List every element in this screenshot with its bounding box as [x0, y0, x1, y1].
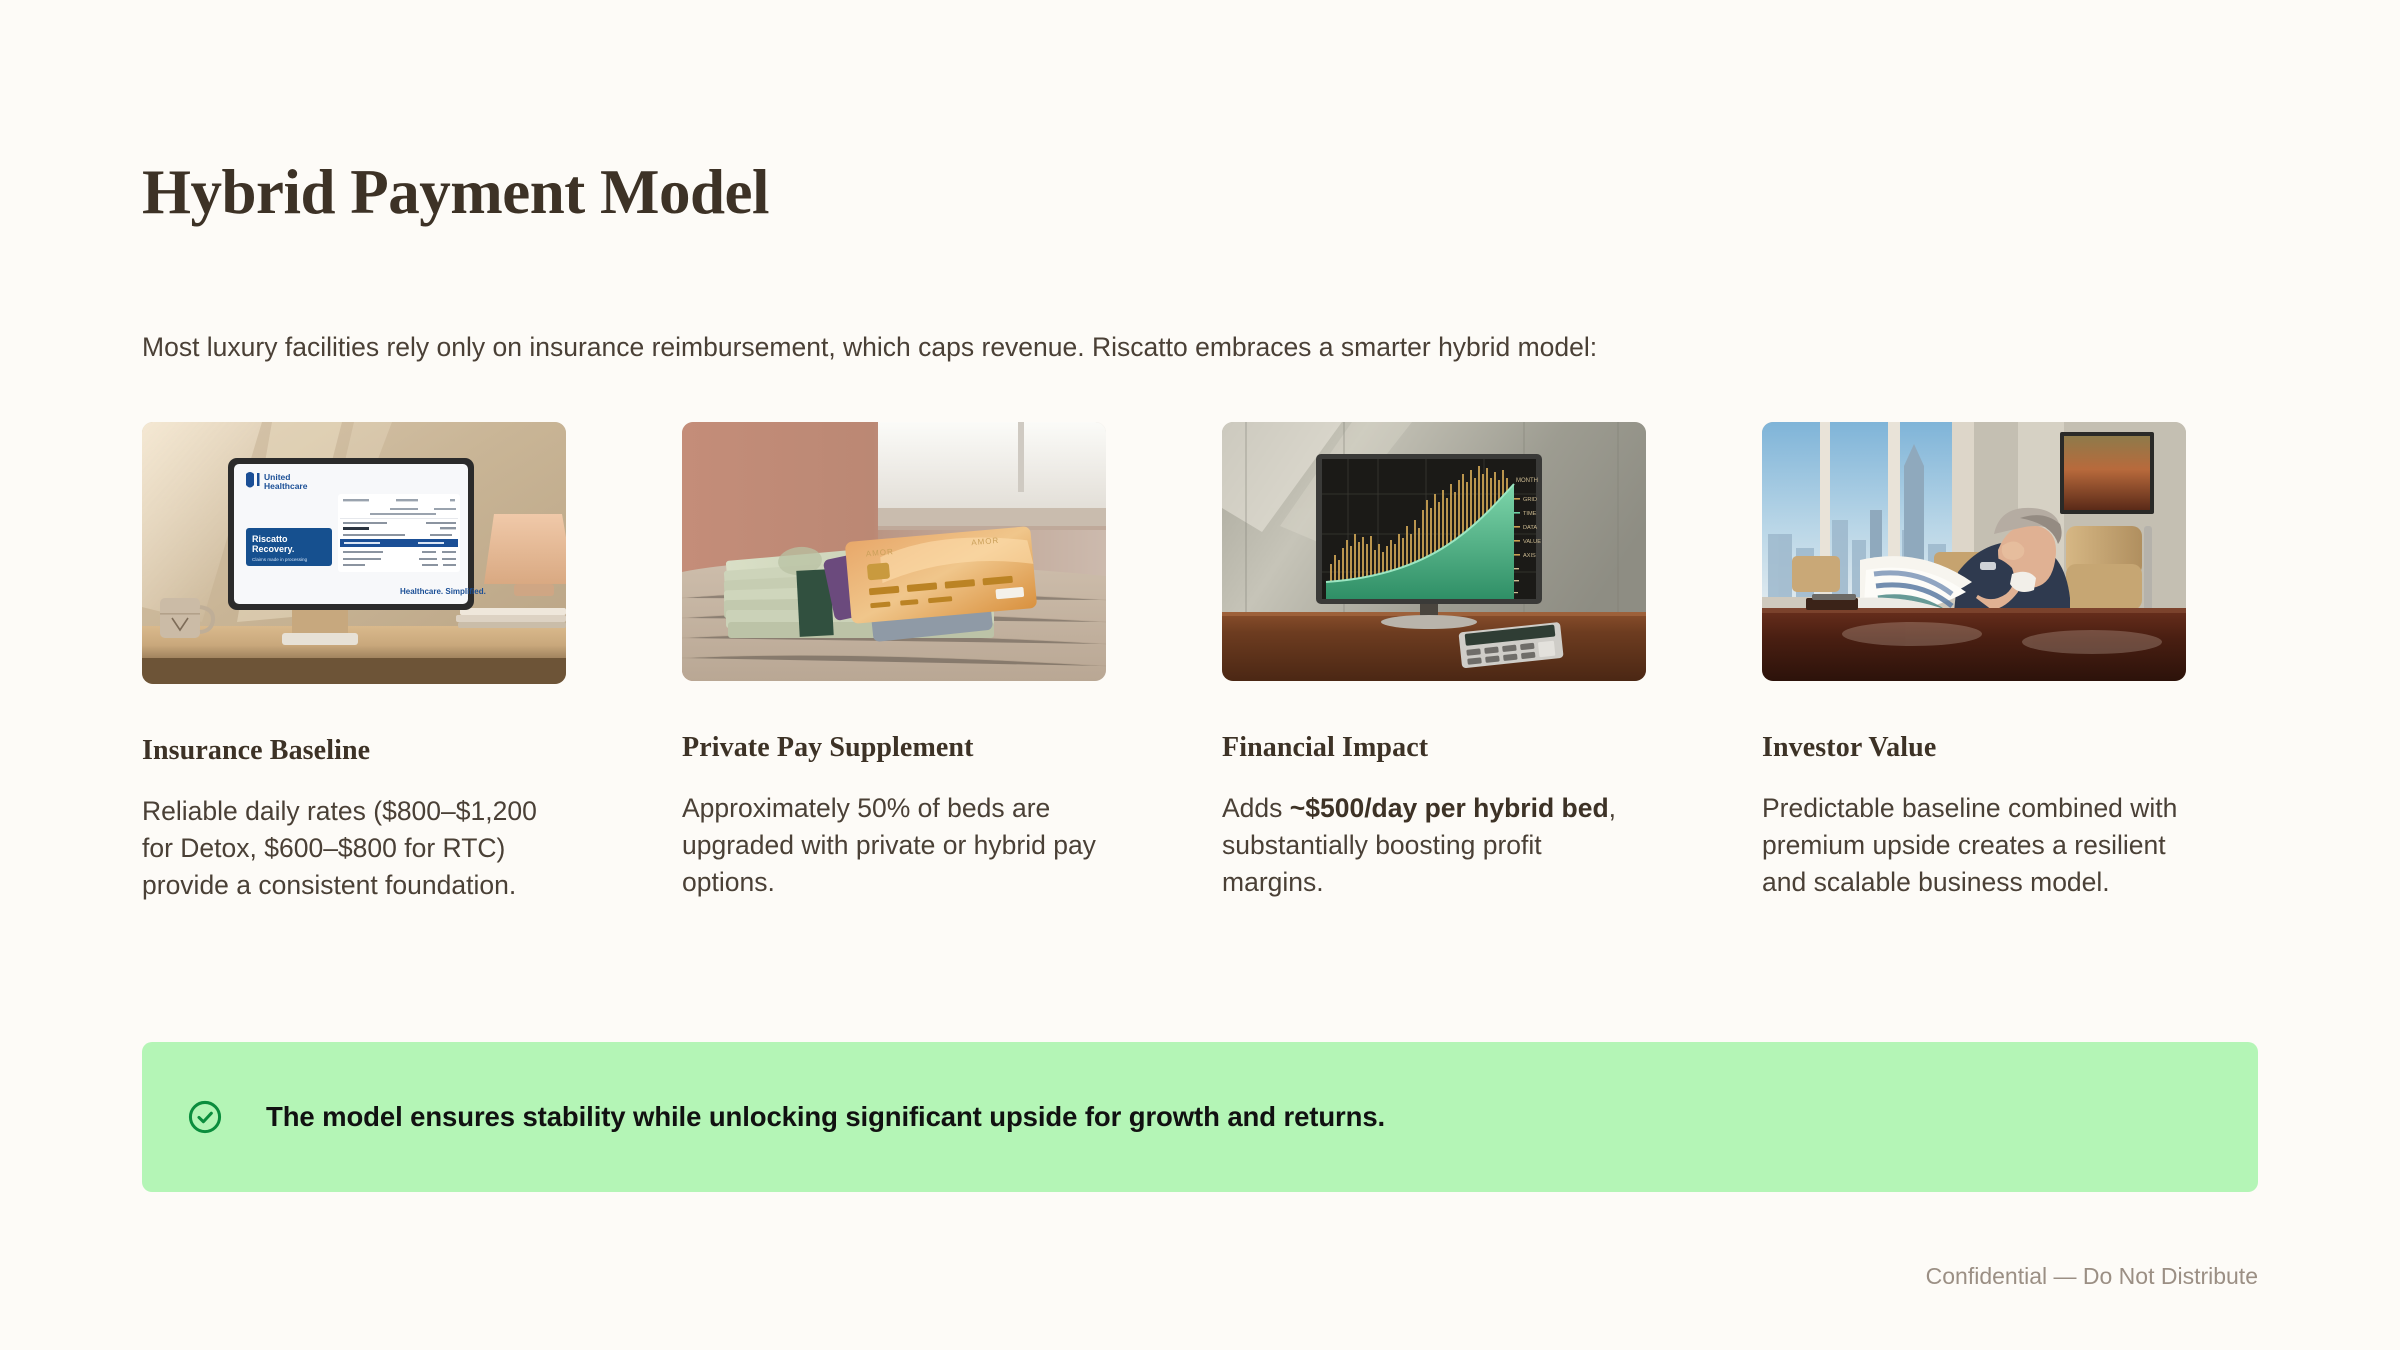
confidential-footer-note: Confidential — Do Not Distribute: [1926, 1263, 2258, 1290]
svg-text:Recovery.: Recovery.: [252, 544, 294, 554]
card-private-pay-supplement: AMOR AMOR Private Pay Supplement Approxi…: [682, 422, 1106, 904]
growth-chart-monitor-photo: MONTH GRID TIME DATA VALUE AXIS: [1222, 422, 1646, 681]
cash-and-cards-illustration: AMOR AMOR: [682, 422, 1106, 681]
svg-text:TIME: TIME: [1523, 511, 1537, 517]
svg-text:DATA: DATA: [1523, 525, 1537, 531]
svg-text:VALUE: VALUE: [1523, 539, 1541, 545]
svg-text:Claims made in processing: Claims made in processing: [252, 557, 308, 562]
card-body-lead: Adds: [1222, 793, 1290, 823]
card-heading: Investor Value: [1762, 732, 2186, 764]
card-body: Predictable baseline combined with premi…: [1762, 790, 2186, 901]
svg-text:Healthcare. Simplified.: Healthcare. Simplified.: [400, 587, 486, 596]
card-investor-value: Investor Value Predictable baseline comb…: [1762, 422, 2186, 904]
insurance-statement-monitor-photo: United Healthcare: [142, 422, 566, 684]
svg-text:AXIS: AXIS: [1523, 553, 1536, 559]
card-grid: United Healthcare: [142, 422, 2186, 904]
slide-root: Hybrid Payment Model Most luxury facilit…: [0, 0, 2400, 1350]
card-body-emphasis: ~$500/day per hybrid bed: [1290, 793, 1609, 823]
callout-banner: The model ensures stability while unlock…: [142, 1042, 2258, 1192]
card-body: Reliable daily rates ($800–$1,200 for De…: [142, 793, 566, 904]
insurance-statement-illustration: United Healthcare: [142, 422, 566, 684]
card-heading: Financial Impact: [1222, 732, 1646, 764]
svg-text:GRID: GRID: [1523, 497, 1537, 503]
executive-office-illustration: [1762, 422, 2186, 681]
card-body: Approximately 50% of beds are upgraded w…: [682, 790, 1106, 901]
callout-text: The model ensures stability while unlock…: [266, 1101, 1385, 1133]
card-heading: Private Pay Supplement: [682, 732, 1106, 764]
svg-text:MONTH: MONTH: [1516, 478, 1538, 484]
circle-check-icon: [186, 1098, 224, 1136]
growth-chart-illustration: MONTH GRID TIME DATA VALUE AXIS: [1222, 422, 1646, 681]
card-financial-impact: MONTH GRID TIME DATA VALUE AXIS: [1222, 422, 1646, 904]
card-heading: Insurance Baseline: [142, 735, 566, 767]
cash-and-credit-cards-photo: AMOR AMOR: [682, 422, 1106, 681]
card-body: Adds ~$500/day per hybrid bed, substanti…: [1222, 790, 1646, 901]
page-title: Hybrid Payment Model: [142, 158, 769, 227]
svg-text:Healthcare: Healthcare: [264, 481, 308, 491]
executive-reviewing-report-photo: [1762, 422, 2186, 681]
intro-paragraph: Most luxury facilities rely only on insu…: [142, 328, 2102, 366]
svg-text:Riscatto: Riscatto: [252, 534, 288, 544]
card-insurance-baseline: United Healthcare: [142, 422, 566, 904]
